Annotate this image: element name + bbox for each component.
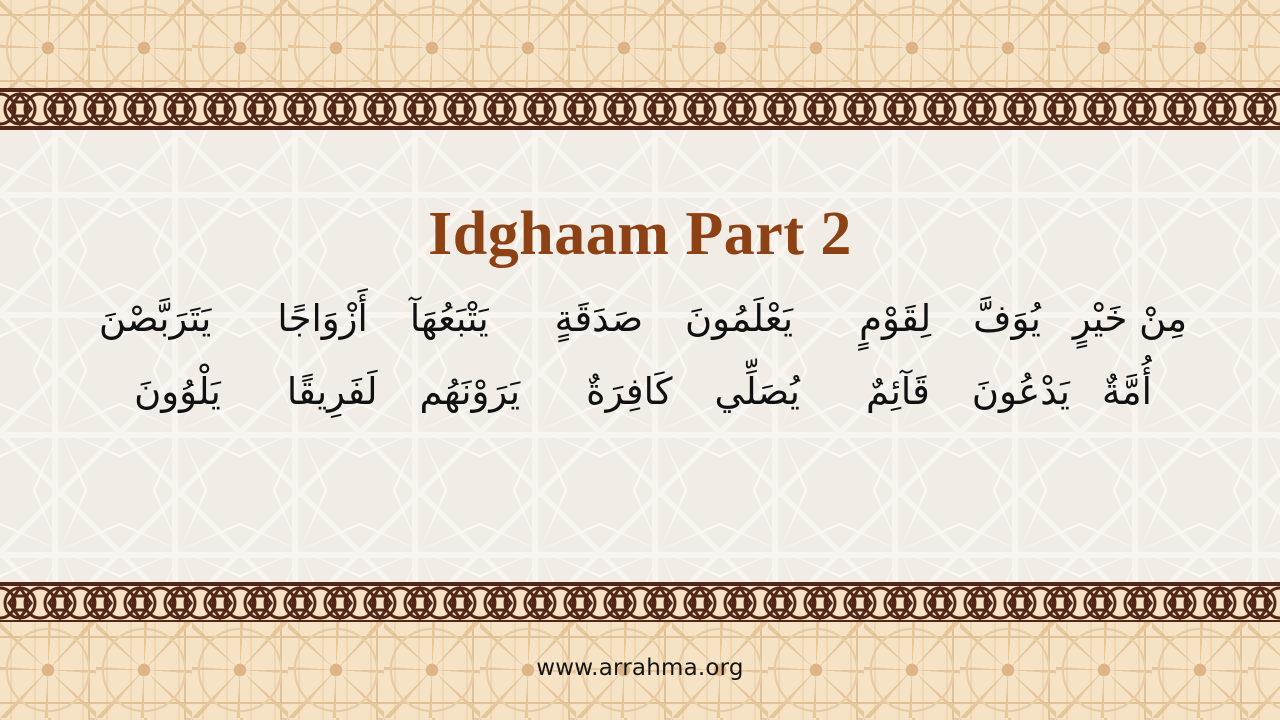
arabic-word: مِنْ خَيْرٍ: [1057, 290, 1203, 347]
arabic-examples-group: يَتَرَبَّصْنَ أَزْوَاجًا يَتْبَعُهَآ صَد…: [0, 290, 1280, 421]
arabic-word: يُصَلِّي: [698, 363, 815, 420]
arabic-word: لِقَوْمٍ: [843, 290, 947, 347]
arabic-word: أُمَّةٌ: [1086, 363, 1168, 420]
arabic-word: يَتْبَعُهَآ: [394, 290, 505, 347]
arabic-word: يَرَوْنَهُم: [404, 363, 537, 420]
footer-website-url: www.arrahma.org: [0, 655, 1280, 681]
arabic-word: صَدَقَةٍ: [539, 290, 659, 347]
bottom-geometric-strip: [0, 582, 1280, 624]
arabic-word: قَآئِمٌ: [850, 363, 946, 420]
arabic-example-row-2: يَلْوُونَ لَفَرِيقًا يَرَوْنَهُم كَافِرَ…: [0, 363, 1280, 420]
interlace-pattern-icon: [0, 92, 1280, 126]
arabic-example-row-1: يَتَرَبَّصْنَ أَزْوَاجًا يَتْبَعُهَآ صَد…: [0, 290, 1280, 347]
interlace-pattern-icon: [0, 586, 1280, 620]
slide-canvas: Idghaam Part 2 يَتَرَبَّصْنَ أَزْوَاجًا …: [0, 0, 1280, 720]
top-rosette-band: [0, 0, 1280, 90]
arabic-word: لَفَرِيقًا: [271, 363, 394, 420]
content-area: Idghaam Part 2 يَتَرَبَّصْنَ أَزْوَاجًا …: [0, 130, 1280, 582]
arabic-word: يُوَفَّ: [957, 290, 1057, 347]
page-title: Idghaam Part 2: [0, 200, 1280, 268]
arabic-word: يَدْعُونَ: [956, 363, 1086, 420]
arabic-word: يَعْلَمُونَ: [669, 290, 809, 347]
arabic-word: يَلْوُونَ: [118, 363, 237, 420]
top-geometric-strip: [0, 88, 1280, 130]
arabic-word: أَزْوَاجًا: [261, 290, 383, 347]
arabic-word: كَافِرَةٌ: [570, 363, 688, 420]
arabic-word: يَتَرَبَّصْنَ: [83, 290, 227, 347]
